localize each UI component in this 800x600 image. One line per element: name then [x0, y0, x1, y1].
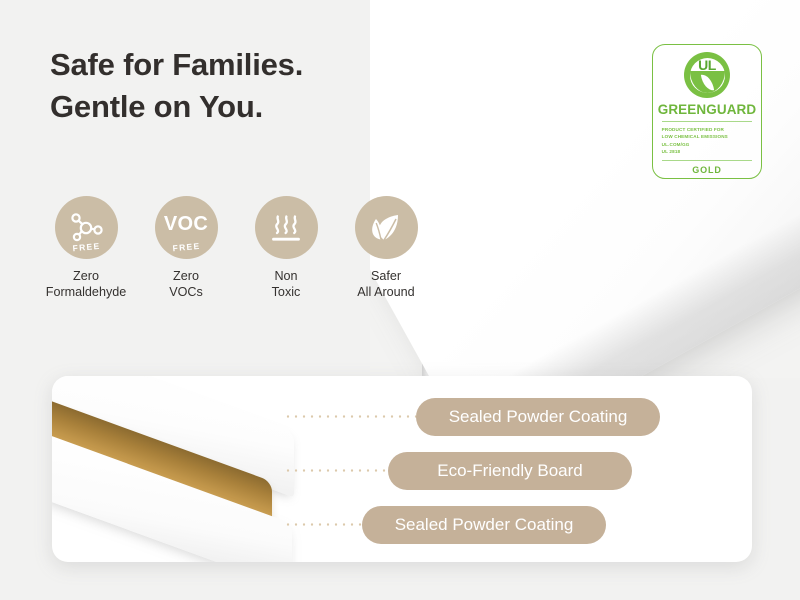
feature-safer-all-around: Safer All Around: [348, 196, 424, 300]
leader-line: [284, 469, 388, 472]
fine-print-line-1: PRODUCT CERTIFIED FOR: [662, 126, 753, 133]
badge-divider-bottom: [662, 160, 753, 161]
construction-diagram-card: Sealed Powder Coating Eco-Friendly Board…: [52, 376, 752, 562]
feature-zero-vocs: VOC FREE Zero VOCs: [148, 196, 224, 300]
page-headline: Safe for Families. Gentle on You.: [50, 44, 470, 128]
voc-text: VOC: [164, 213, 208, 236]
feature-non-toxic: Non Toxic: [248, 196, 324, 300]
free-word-badge: FREE: [54, 239, 118, 254]
headline-line-1: Safe for Families.: [50, 47, 303, 82]
fine-print-line-2: LOW CHEMICAL EMISSIONS: [662, 133, 753, 140]
layer-label-row: Sealed Powder Coating: [284, 392, 744, 441]
layer-label-row: Sealed Powder Coating: [284, 500, 744, 549]
headline-line-2: Gentle on You.: [50, 89, 263, 124]
free-word-badge: FREE: [154, 239, 218, 254]
badge-fine-print: PRODUCT CERTIFIED FOR LOW CHEMICAL EMISS…: [662, 126, 753, 156]
voc-free-icon: VOC FREE: [155, 196, 218, 259]
ul-mark-text: UL: [684, 57, 730, 73]
molecule-free-icon: FREE: [55, 196, 118, 259]
leader-line: [284, 523, 362, 526]
layer-label-pill: Sealed Powder Coating: [362, 506, 606, 544]
feature-label: Zero Formaldehyde: [46, 268, 127, 300]
badge-level-gold: GOLD: [692, 165, 722, 175]
layer-label-row: Eco-Friendly Board: [284, 446, 744, 495]
feature-label: Safer All Around: [357, 268, 414, 300]
feature-label: Zero VOCs: [169, 268, 203, 300]
feature-label: Non Toxic: [272, 268, 301, 300]
layer-label-pill: Sealed Powder Coating: [416, 398, 660, 436]
leader-line: [284, 415, 416, 418]
fine-print-line-3: UL.COM/GG: [662, 141, 753, 148]
steam-non-toxic-icon: [255, 196, 318, 259]
greenguard-wordmark: GREENGUARD: [658, 102, 757, 117]
feature-zero-formaldehyde: FREE Zero Formaldehyde: [48, 196, 124, 300]
greenguard-certification-badge: UL GREENGUARD PRODUCT CERTIFIED FOR LOW …: [652, 44, 762, 179]
badge-divider-top: [662, 121, 753, 122]
layer-label-pill: Eco-Friendly Board: [388, 452, 632, 490]
fine-print-line-4: UL 2818: [662, 148, 753, 155]
ul-leaf-icon: UL: [684, 52, 730, 98]
leaves-icon: [355, 196, 418, 259]
feature-badge-row: FREE Zero Formaldehyde VOC FREE Zero VOC…: [48, 196, 424, 300]
layer-label-list: Sealed Powder Coating Eco-Friendly Board…: [284, 392, 744, 554]
